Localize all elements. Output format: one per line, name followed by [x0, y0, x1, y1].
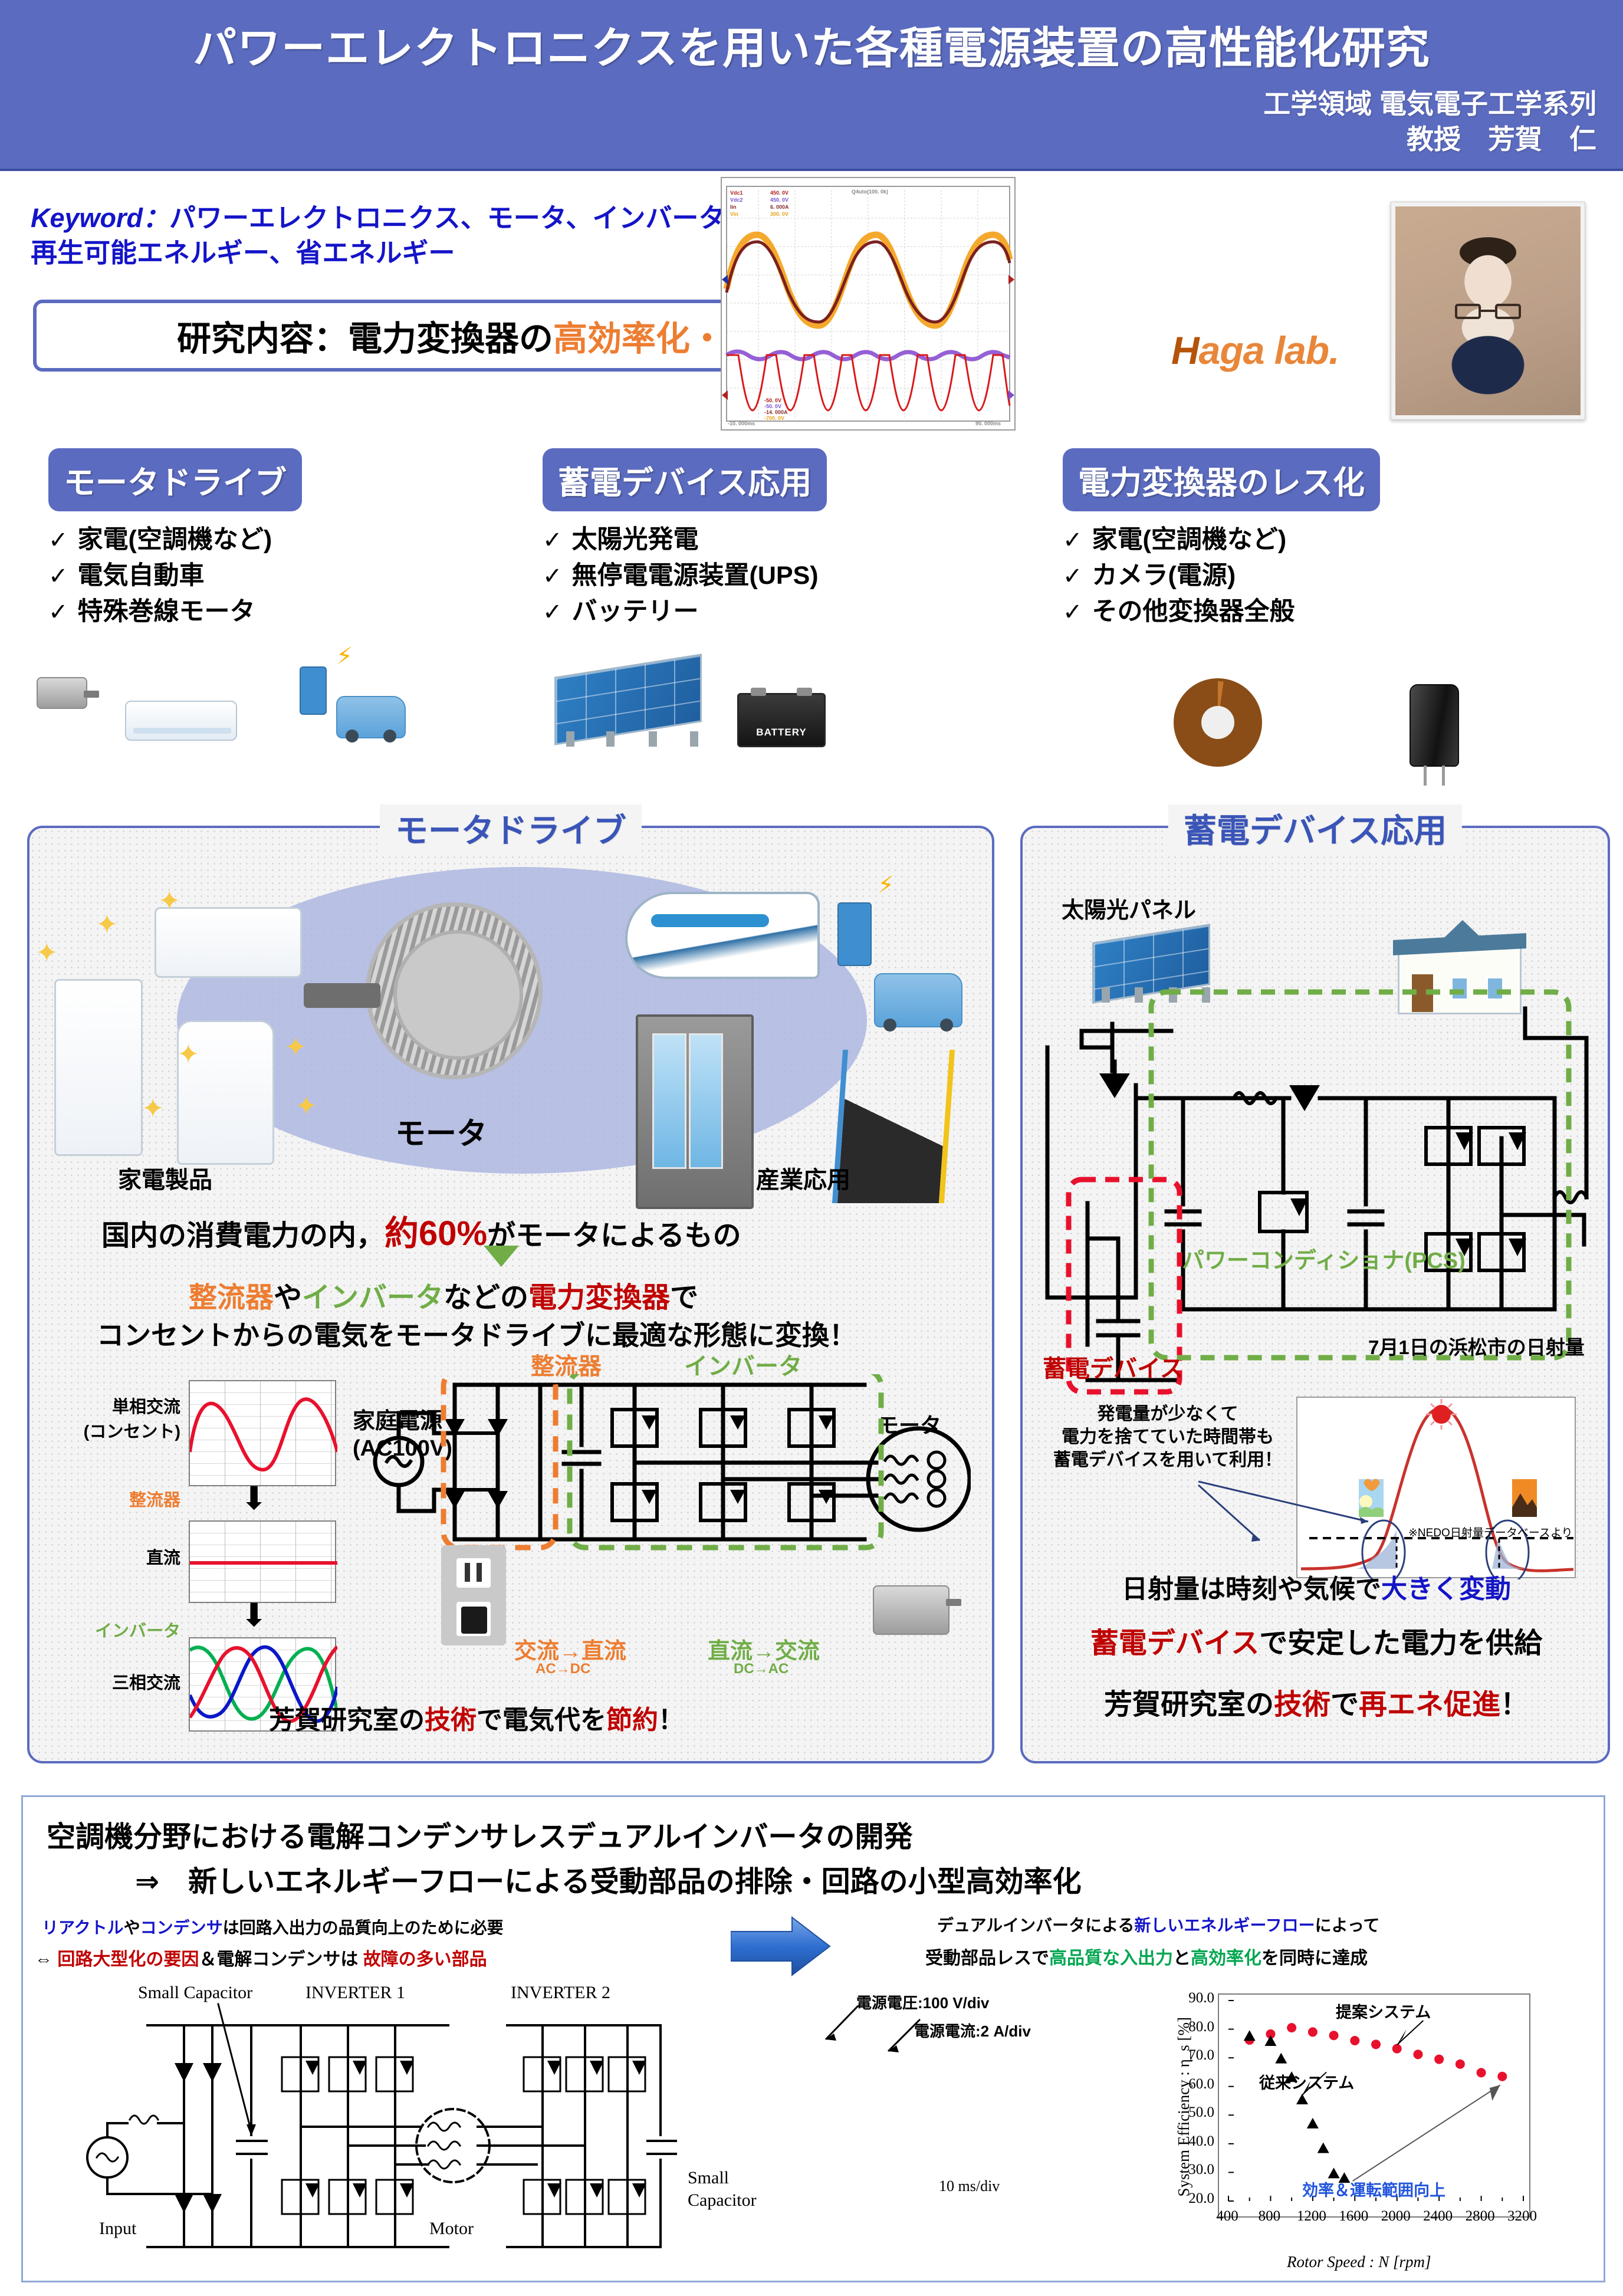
list-item: ✓カメラ(電源)	[1063, 558, 1380, 594]
list-item: ✓家電(空調機など)	[1063, 522, 1380, 558]
list-item: ✓バッテリー	[543, 594, 827, 630]
list-item: ✓電気自動車	[48, 558, 302, 594]
pcs-label: パワーコンディショナ(PCS)	[1182, 1242, 1466, 1275]
svg-text:Vdc2: Vdc2	[730, 197, 743, 203]
category-2-item-0: 太陽光発電	[572, 522, 699, 558]
conj-nado: などの	[443, 1282, 528, 1313]
sparkle-icon: ✦	[177, 1038, 200, 1070]
elevator-illustration	[636, 1014, 754, 1209]
photo-image	[1395, 206, 1581, 415]
sparkle-icon: ✦	[142, 1092, 165, 1124]
category-3-list: ✓家電(空調機など) ✓カメラ(電源) ✓その他変換器全般	[1063, 522, 1380, 630]
panel-motor-drive-title: モータドライブ	[380, 804, 642, 852]
dc-to-ac-label-en: DC→AC	[734, 1661, 788, 1677]
toroidal-inductor-illustration	[1174, 678, 1262, 767]
storage-device-label: 蓄電デバイス	[1043, 1349, 1184, 1384]
storage-footer-3: 芳賀研究室の技術で再エネ促進！	[1027, 1687, 1605, 1723]
oscilloscope-screenshot: Vdc1450. 0V Vdc2450. 0V Iin6. 000A Vin30…	[721, 177, 1016, 431]
list-item: ✓家電(空調機など)	[48, 522, 302, 558]
sparkle-icon: ✦	[35, 937, 58, 968]
solar-panel-label: 太陽光パネル	[1062, 892, 1196, 924]
waveform-ac-svg	[190, 1381, 337, 1487]
osc-timebase: 10 ms/div	[939, 2177, 1000, 2195]
category-1-list: ✓家電(空調機など) ✓電気自動車 ✓特殊巻線モータ	[48, 522, 302, 630]
annotation-arrows	[1191, 1451, 1439, 1569]
chart-y-tick: 30.0	[1178, 2162, 1214, 2178]
train-illustration	[625, 892, 820, 979]
chart-x-tick: 400	[1207, 2208, 1247, 2225]
svg-text:-50. 0V: -50. 0V	[764, 403, 781, 409]
escalator-illustration	[832, 1050, 955, 1203]
bottom-right-line-1: デュアルインバータによる新しいエネルギーフローによって	[937, 1913, 1379, 1936]
power-converter-word: 電力変換器	[528, 1282, 670, 1313]
inverter2-label: INVERTER 2	[511, 1983, 610, 2003]
svg-text:Vdc1: Vdc1	[730, 190, 743, 196]
chart-annotation-conventional: 従来システム	[1259, 2070, 1354, 2093]
wave-label-dc: 直流	[74, 1544, 180, 1569]
svg-text:-50. 0V: -50. 0V	[764, 398, 781, 403]
list-item: ✓太陽光発電	[543, 522, 827, 558]
sparkle-icon: ✦	[158, 885, 181, 917]
ac-to-dc-label: 交流→直流	[514, 1633, 626, 1665]
motor-drive-footer: 芳賀研究室の技術で電気代を節約！	[269, 1699, 684, 1736]
bottom-right-line-2: 受動部品レスで高品質な入出力と高効率化を同時に達成	[925, 1943, 1368, 1969]
category-3-item-0: 家電(空調機など)	[1092, 522, 1287, 558]
category-3-title: 電力変換器のレス化	[1063, 448, 1380, 511]
stat-suffix: がモータによるもの	[487, 1220, 741, 1252]
glasses-icon	[1455, 304, 1521, 319]
chart-x-tick: 1200	[1292, 2208, 1332, 2225]
rectifier-word: 整流器	[189, 1282, 274, 1313]
battery-label: BATTERY	[739, 727, 824, 738]
dual-inverter-circuit-diagram	[71, 1999, 714, 2277]
check-icon: ✓	[48, 560, 68, 593]
category-3-item-2: その他変換器全般	[1092, 594, 1295, 630]
chart-x-tick: 2000	[1376, 2208, 1416, 2225]
check-icon: ✓	[1063, 524, 1083, 557]
research-prefix: 研究内容：電力変換器の	[177, 320, 553, 358]
check-icon: ✓	[48, 596, 68, 629]
motor-illustration	[37, 677, 87, 709]
chart-y-tick: 40.0	[1178, 2133, 1214, 2150]
list-item: ✓特殊巻線モータ	[48, 594, 302, 630]
category-2-list: ✓太陽光発電 ✓無停電電源装置(UPS) ✓バッテリー	[543, 522, 827, 630]
input-label: Input	[99, 2219, 136, 2239]
poster-header: パワーエレクトロニクスを用いた各種電源装置の高性能化研究 工学領域 電気電子工学…	[0, 0, 1623, 171]
home-appliance-caption: 家電製品	[118, 1161, 212, 1195]
power-outlet-illustration	[441, 1545, 506, 1645]
svg-text:300. 0V: 300. 0V	[770, 211, 788, 217]
stat-value: 約60%	[385, 1214, 487, 1253]
electric-car-illustration	[336, 696, 406, 738]
storage-footer-1: 日射量は時刻や気候で大きく変動	[1039, 1572, 1594, 1606]
down-arrow-icon-1: ⬇	[241, 1483, 267, 1515]
svg-text:6. 000A: 6. 000A	[770, 204, 789, 210]
motor-drive-circuit-diagram	[346, 1374, 971, 1704]
small-capacitor-right-label: SmallCapacitor	[688, 2167, 757, 2211]
lightning-bolt-icon-2: ⚡	[878, 872, 894, 899]
svg-text:-10. 000ms: -10. 000ms	[728, 421, 755, 426]
category-storage-device: 蓄電デバイス応用 ✓太陽光発電 ✓無停電電源装置(UPS) ✓バッテリー	[543, 448, 827, 630]
category-converter-less: 電力変換器のレス化 ✓家電(空調機など) ✓カメラ(電源) ✓その他変換器全般	[1063, 448, 1380, 630]
electric-car-illustration-2	[874, 973, 962, 1027]
category-motor-drive: モータドライブ ✓家電(空調機など) ✓電気自動車 ✓特殊巻線モータ	[48, 448, 302, 630]
category-1-title: モータドライブ	[48, 448, 302, 511]
conj-ya: や	[274, 1282, 302, 1313]
large-motor-illustration	[366, 902, 543, 1079]
wave-label-single-phase-ac: 単相交流(コンセント)	[74, 1393, 180, 1443]
list-item: ✓無停電電源装置(UPS)	[543, 558, 827, 594]
inverter1-label: INVERTER 1	[305, 1983, 405, 2003]
chart-y-tick: 50.0	[1178, 2104, 1214, 2121]
category-2-item-2: バッテリー	[572, 594, 699, 630]
waveform-dc-svg	[190, 1522, 337, 1604]
author-name: 教授 芳賀 仁	[1407, 118, 1596, 157]
svg-text:90. 000ms: 90. 000ms	[975, 421, 1001, 426]
sparkle-icon: ✦	[96, 908, 119, 940]
svg-text:Q4uto(100. 0k): Q4uto(100. 0k)	[852, 189, 888, 195]
storage-footer-2: 蓄電デバイスで安定した電力を供給	[1027, 1625, 1605, 1662]
irradiance-chart-title: 7月1日の浜松市の日射量	[1368, 1332, 1585, 1360]
list-item: ✓その他変換器全般	[1063, 594, 1380, 630]
industrial-application-caption: 産業応用	[756, 1161, 850, 1195]
svg-text:Iin: Iin	[730, 204, 737, 210]
affiliation-text: 工学領域 電気電子工学系列	[1263, 83, 1596, 121]
category-2-item-1: 無停電電源装置(UPS)	[572, 558, 819, 594]
waveform-dc	[189, 1520, 336, 1603]
electrolytic-capacitor-illustration	[1410, 684, 1459, 767]
chart-y-tick: 80.0	[1178, 2019, 1214, 2035]
bottom-heading-2: ⇒ 新しいエネルギーフローによる受動部品の排除・回路の小型高効率化	[135, 1858, 1082, 1900]
lightning-bolt-icon: ⚡	[336, 643, 353, 670]
chart-y-tick: 20.0	[1178, 2190, 1214, 2207]
flow-arrow-icon	[731, 1914, 831, 1982]
down-triangle-icon	[484, 1246, 519, 1267]
battery-illustration: BATTERY	[737, 693, 826, 747]
page-title: パワーエレクトロニクスを用いた各種電源装置の高性能化研究	[0, 13, 1623, 76]
down-arrow-icon-2: ⬇	[241, 1599, 267, 1631]
chart-annotation-improvement: 効率＆運転範囲向上	[1302, 2177, 1445, 2200]
chart-x-axis-label: Rotor Speed : N [rpm]	[1287, 2253, 1431, 2271]
motor-caption: モータ	[395, 1109, 487, 1153]
motor-power-stat: 国内の消費電力の内，約60%がモータによるもの	[101, 1206, 741, 1255]
sparkle-icon: ✦	[284, 1031, 307, 1063]
refrigerator-illustration	[54, 979, 143, 1156]
wave-label-rectifier: 整流器	[74, 1486, 180, 1511]
check-icon: ✓	[1063, 560, 1083, 593]
ev-charger-illustration-2	[837, 902, 872, 966]
converter-explain-line1: 整流器やインバータなどの電力変換器で	[189, 1274, 698, 1315]
wave-label-three-phase-ac: 三相交流	[74, 1669, 180, 1694]
dc-to-ac-label: 直流→交流	[708, 1633, 820, 1665]
svg-text:-700. 0V: -700. 0V	[764, 415, 784, 421]
keyword-label: Keyword：	[31, 203, 169, 233]
solar-panel-legs	[561, 731, 709, 747]
logo-text: aga lab.	[1199, 329, 1339, 372]
conj-de: で	[670, 1282, 698, 1313]
svg-text:Vin: Vin	[730, 211, 738, 217]
chart-x-tick: 1600	[1333, 2208, 1374, 2225]
chart-x-tick: 3200	[1502, 2208, 1542, 2225]
air-conditioner-illustration	[125, 701, 237, 741]
bottom-left-line-2: ⇔ 回路大型化の要因＆電解コンデンサは 故障の多い部品	[35, 1944, 487, 1970]
check-icon: ✓	[543, 596, 563, 629]
chart-y-tick: 90.0	[1178, 1990, 1214, 2006]
svg-text:450. 0V: 450. 0V	[770, 190, 788, 196]
small-motor-illustration	[873, 1585, 950, 1635]
motor-label: Motor	[429, 2219, 474, 2239]
chart-x-tick: 800	[1249, 2208, 1289, 2225]
panel-storage-device-title: 蓄電デバイス応用	[1168, 804, 1462, 852]
waveform-ac-input	[189, 1380, 336, 1486]
chart-x-tick: 2800	[1460, 2208, 1500, 2225]
osc-annotation-arrows	[814, 2005, 967, 2052]
category-1-item-0: 家電(空調機など)	[78, 522, 272, 558]
category-1-item-1: 電気自動車	[78, 558, 205, 594]
ac-to-dc-label-en: AC→DC	[535, 1661, 590, 1677]
category-3-item-1: カメラ(電源)	[1092, 558, 1236, 594]
chart-y-tick: 70.0	[1178, 2047, 1214, 2064]
check-icon: ✓	[543, 560, 563, 593]
category-1-item-2: 特殊巻線モータ	[78, 594, 255, 630]
chart-y-tick: 60.0	[1178, 2076, 1214, 2093]
bottom-heading-1: 空調機分野における電解コンデンサレスデュアルインバータの開発	[47, 1814, 913, 1855]
small-capacitor-left-label: Small Capacitor	[138, 1983, 252, 2003]
oscilloscope-svg: Vdc1450. 0V Vdc2450. 0V Iin6. 000A Vin30…	[722, 178, 1014, 429]
stat-prefix: 国内の消費電力の内，	[101, 1220, 385, 1252]
ev-charger-illustration	[300, 666, 327, 715]
air-conditioner-illustration-2	[155, 907, 302, 978]
check-icon: ✓	[48, 524, 68, 557]
sparkle-icon: ✦	[295, 1090, 318, 1122]
keyword-line-2: 再生可能エネルギー、省エネルギー	[31, 238, 455, 268]
inverter-word: インバータ	[302, 1282, 443, 1313]
chart-x-tick: 2400	[1418, 2208, 1458, 2225]
category-2-title: 蓄電デバイス応用	[543, 448, 827, 511]
logo-letter-h: H	[1171, 329, 1199, 372]
haga-lab-logo: Haga lab.	[1171, 328, 1339, 373]
svg-text:-14. 000A: -14. 000A	[764, 409, 788, 415]
professor-photo	[1391, 202, 1585, 420]
check-icon: ✓	[1063, 596, 1083, 629]
bottom-left-line-1: リアクトルやコンデンサは回路入出力の品質向上のために必要	[42, 1915, 504, 1939]
wave-label-inverter: インバータ	[68, 1617, 180, 1642]
chart-annotation-proposed: 提案システム	[1336, 1999, 1431, 2022]
svg-text:450. 0V: 450. 0V	[770, 197, 788, 203]
check-icon: ✓	[543, 524, 563, 557]
